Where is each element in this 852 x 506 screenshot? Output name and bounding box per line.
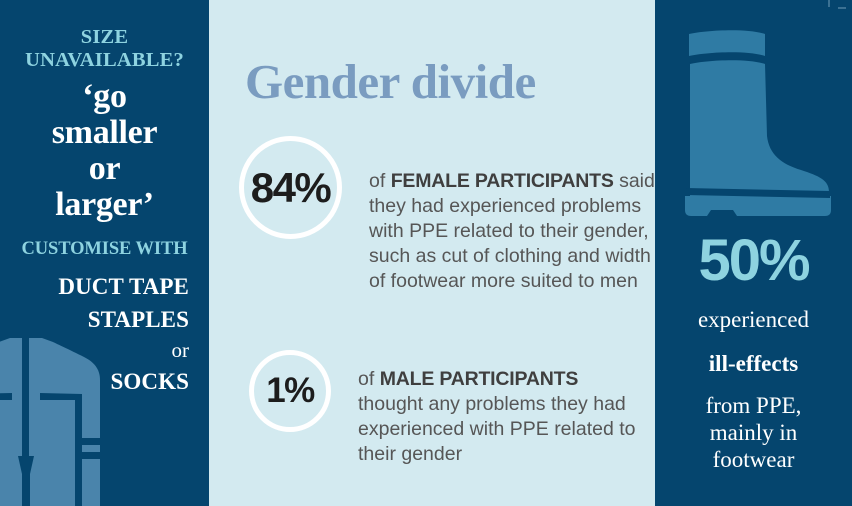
middle-panel: Gender divide 84% of FEMALE PARTICIPANTS… xyxy=(209,0,655,506)
tail-line-3: footwear xyxy=(665,446,842,473)
right-panel: 50% experienced ill-effects from PPE, ma… xyxy=(655,0,852,506)
tail-line-2: mainly in xyxy=(665,419,842,446)
list-item: SOCKS xyxy=(12,366,189,399)
stat-circle: 84% xyxy=(239,136,342,239)
kicker-line-1: SIZE xyxy=(12,26,197,49)
list-item: or xyxy=(12,336,189,366)
list-item: STAPLES xyxy=(12,304,189,337)
left-content-stack: SIZE UNAVAILABLE? ‘go smaller or larger’… xyxy=(0,0,209,399)
stat-percent-value: 1% xyxy=(266,371,314,411)
left-panel: SIZE UNAVAILABLE? ‘go smaller or larger’… xyxy=(0,0,209,506)
list-item: DUCT TAPE xyxy=(12,271,189,304)
stat-percent-value: 84% xyxy=(251,164,331,212)
page-title: Gender divide xyxy=(245,53,536,110)
stat-lead-text: of xyxy=(358,368,380,390)
quote-line-1: ‘go xyxy=(12,79,197,115)
stat-bold-text: MALE PARTICIPANTS xyxy=(380,368,578,390)
rubber-boot-icon xyxy=(677,28,837,218)
tail-line-1: from PPE, xyxy=(665,392,842,419)
stat-bold-text: FEMALE PARTICIPANTS xyxy=(391,170,614,192)
size-unavailable-kicker: SIZE UNAVAILABLE? xyxy=(12,26,197,72)
stat-description: of MALE PARTICIPANTS thought any problem… xyxy=(358,367,648,467)
stat-rest-text: thought any problems they had experience… xyxy=(358,393,636,465)
kicker-line-2: UNAVAILABLE? xyxy=(12,49,197,72)
advice-quote: ‘go smaller or larger’ xyxy=(12,79,197,223)
ill-effects-tail: from PPE, mainly in footwear xyxy=(665,392,842,473)
customise-item-list: DUCT TAPE STAPLES or SOCKS xyxy=(12,271,197,399)
ill-effects-percent: 50% xyxy=(665,232,842,290)
quote-line-4: larger’ xyxy=(12,187,197,223)
ill-effects-line-emphasis: ill-effects xyxy=(665,350,842,378)
stat-lead-text: of xyxy=(369,170,391,192)
quote-line-3: or xyxy=(12,151,197,187)
infographic-root: SIZE UNAVAILABLE? ‘go smaller or larger’… xyxy=(0,0,852,506)
ill-effects-line-experienced: experienced xyxy=(665,306,842,334)
stat-circle: 1% xyxy=(249,350,331,432)
stat-description: of FEMALE PARTICIPANTS said they had exp… xyxy=(369,169,655,294)
corner-artifact-icon xyxy=(826,0,846,14)
stat-male-participants: 1% of MALE PARTICIPANTS thought any prob… xyxy=(249,350,648,467)
quote-line-2: smaller xyxy=(12,115,197,151)
right-content-stack: 50% experienced ill-effects from PPE, ma… xyxy=(655,232,852,474)
stat-female-participants: 84% of FEMALE PARTICIPANTS said they had… xyxy=(239,136,655,294)
customise-with-label: CUSTOMISE WITH xyxy=(12,239,197,260)
